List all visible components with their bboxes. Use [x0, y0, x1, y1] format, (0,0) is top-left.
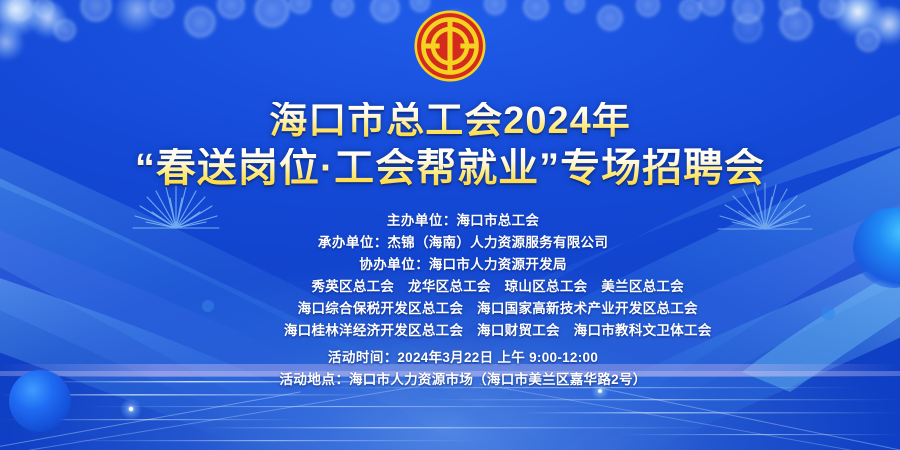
- info-label: 活动时间: [302, 347, 384, 369]
- info-row-host: 承办单位 ： 杰锦（海南）人力资源服务有限公司: [0, 232, 900, 254]
- info-row-coorganizer-extra: 协办单位 ： 海口综合保税开发区总工会 海口国家高新技术产业开发区总工会: [0, 298, 900, 320]
- info-label: 主办单位: [361, 210, 443, 232]
- info-colon: ：: [443, 210, 457, 232]
- poster-info-block: 主办单位 ： 海口市总工会 承办单位 ： 杰锦（海南）人力资源服务有限公司 协办…: [0, 210, 900, 391]
- info-row-coorganizer-extra: 协办单位 ： 秀英区总工会 龙华区总工会 琼山区总工会 美兰区总工会: [0, 276, 900, 298]
- info-colon: ：: [415, 254, 429, 276]
- info-value: 杰锦（海南）人力资源服务有限公司: [387, 232, 608, 254]
- info-label: 活动地点: [253, 369, 335, 391]
- info-label: 承办单位: [292, 232, 374, 254]
- poster-title-group: 海口市总工会2024年 “春送岗位·工会帮就业”专场招聘会: [0, 102, 900, 189]
- info-value: 海口市人力资源市场（海口市美兰区嘉华路2号）: [349, 369, 647, 391]
- info-value: 海口桂林洋经济开发区总工会 海口财贸工会 海口市教科文卫体工会: [284, 320, 712, 342]
- poster-canvas: 海口市总工会2024年 “春送岗位·工会帮就业”专场招聘会 主办单位 ： 海口市…: [0, 0, 900, 450]
- floor-streaks: [0, 381, 900, 450]
- glow-point: [129, 407, 133, 411]
- acftu-union-emblem: [413, 9, 487, 83]
- info-colon: ：: [384, 347, 398, 369]
- info-row-organizer: 主办单位 ： 海口市总工会: [0, 210, 900, 232]
- info-value: 海口市总工会: [456, 210, 539, 232]
- info-row-coorganizer: 协办单位 ： 海口市人力资源开发局: [0, 254, 900, 276]
- info-value: 海口综合保税开发区总工会 海口国家高新技术产业开发区总工会: [298, 298, 698, 320]
- info-row-time: 活动时间 ： 2024年3月22日 上午 9:00-12:00: [0, 347, 900, 369]
- info-colon: ：: [335, 369, 349, 391]
- info-value: 海口市人力资源开发局: [429, 254, 567, 276]
- page-title-line2: “春送岗位·工会帮就业”专场招聘会: [0, 148, 900, 190]
- info-value: 秀英区总工会 龙华区总工会 琼山区总工会 美兰区总工会: [311, 276, 684, 298]
- info-row-place: 活动地点 ： 海口市人力资源市场（海口市美兰区嘉华路2号）: [0, 369, 900, 391]
- info-row-coorganizer-extra: 协办单位 ： 海口桂林洋经济开发区总工会 海口财贸工会 海口市教科文卫体工会: [0, 320, 900, 342]
- info-value: 2024年3月22日 上午 9:00-12:00: [397, 347, 598, 369]
- info-colon: ：: [374, 232, 388, 254]
- info-label: 协办单位: [333, 254, 415, 276]
- glow-point: [120, 398, 142, 420]
- page-title-line1: 海口市总工会2024年: [0, 102, 900, 142]
